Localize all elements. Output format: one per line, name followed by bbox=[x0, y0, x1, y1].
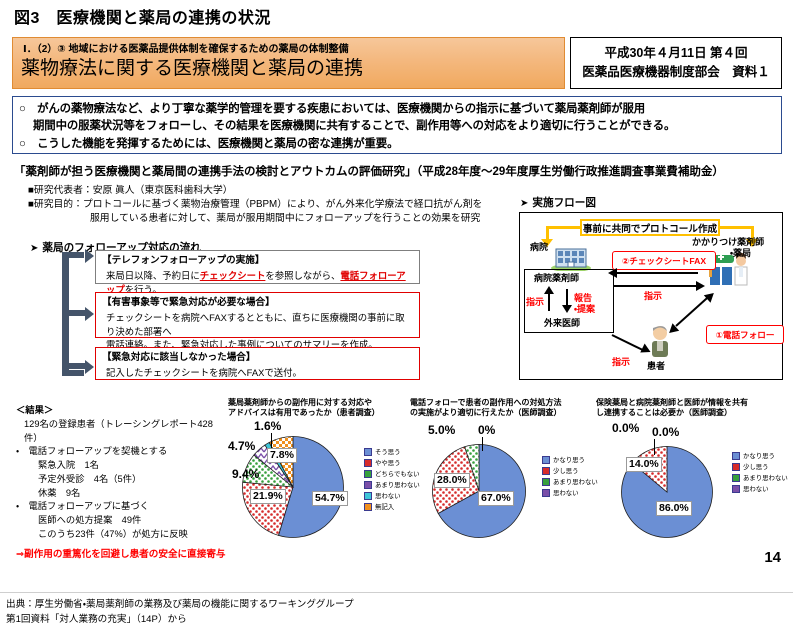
instruction-label-to-patient: 指示 bbox=[612, 355, 630, 368]
results-conclusion: ⇒副作用の重篤化を回避し患者の安全に直接寄与 bbox=[16, 548, 226, 562]
chart3-label-1: 14.0% bbox=[626, 457, 662, 472]
chart3-leader-line bbox=[654, 439, 655, 455]
flow-step-1-pre: 来局日以降、予約日に bbox=[106, 270, 200, 281]
chart2-title: 電話フォローで患者の副作用への対処方法 の実施がより適切に行えたか（医師調査） bbox=[410, 398, 590, 419]
legend-swatch bbox=[732, 485, 740, 493]
chart3-label-3: 0.0% bbox=[650, 425, 681, 440]
study-meta: ■研究代表者：安原 眞人（東京医科歯科大学） ■研究目的：プロトコールに基づく薬… bbox=[28, 184, 482, 227]
chart3-label-2: 0.0% bbox=[610, 421, 641, 436]
legend-item: 少し思う bbox=[732, 462, 788, 473]
results-registered: 129名の登録患者（トレーシングレポート428件） bbox=[16, 418, 226, 446]
diagram-heading-label: 実施フロー図 bbox=[532, 197, 596, 209]
page-number: 14 bbox=[764, 549, 781, 566]
legend-swatch bbox=[364, 503, 372, 511]
chart1-title-line-2: アドバイスは有用であったか（患者調査） bbox=[228, 408, 380, 417]
implementation-flow-diagram: 事前に共同でプロトコール作成 病院 bbox=[519, 212, 783, 380]
chart3-title: 保険薬局と病院薬剤師と医師が情報を共有 し連携することは必要か（医師調査） bbox=[596, 398, 790, 419]
legend-label: 少し思う bbox=[553, 466, 579, 477]
protocol-drop-left bbox=[546, 226, 549, 240]
flow-bracket-tip-1 bbox=[85, 249, 94, 263]
results-item-2b: このうち23件（47%）が処方に反映 bbox=[16, 528, 226, 542]
footer-line-1: 出典：厚生労働省・薬局薬剤師の業務及び薬局の機能に関するワーキンググループ bbox=[6, 597, 354, 612]
page-title: 薬物療法に関する医療機関と薬局の連携 bbox=[21, 53, 363, 80]
chart3-label-0-text: 86.0% bbox=[659, 502, 689, 514]
chart1-label-5: 7.8% bbox=[267, 448, 297, 463]
chart3-title-line-1: 保険薬局と病院薬剤師と医師が情報を共有 bbox=[596, 398, 748, 407]
legend-swatch bbox=[542, 478, 550, 486]
triangle-right-icon: ➤ bbox=[30, 243, 38, 254]
chart-information-sharing: 保険薬局と病院薬剤師と医師が情報を共有 し連携することは必要か（医師調査） 0.… bbox=[594, 398, 790, 539]
legend-item: かなり思う bbox=[542, 455, 598, 466]
results-item-1: ・ 電話フォローアップを契機とする bbox=[16, 445, 226, 459]
flow-step-3-body-line-1: 記入したチェックシートを病院へFAXで送付。 bbox=[102, 366, 414, 380]
legend-label: かなり思う bbox=[553, 455, 585, 466]
results-item-2a: 医師への処方提案 49件 bbox=[16, 514, 226, 528]
chart1-label-1: 21.9% bbox=[250, 489, 286, 504]
proposal-label: ・提案 bbox=[574, 302, 595, 315]
results-block: ＜結果＞ 129名の登録患者（トレーシングレポート428件） ・ 電話フォローア… bbox=[16, 404, 226, 562]
flow-step-box-2: 【有害事象等で緊急対応が必要な場合】 チェックシートを病院へFAXするとともに、… bbox=[95, 292, 420, 338]
instruction-arrow-right-icon bbox=[696, 281, 705, 291]
legend-label: あまり思わない bbox=[743, 473, 788, 484]
chart3-title-line-2: し連携することは必要か（医師調査） bbox=[596, 408, 732, 417]
chart3-label-0: 86.0% bbox=[656, 501, 692, 516]
chart2-label-1: 28.0% bbox=[434, 473, 470, 488]
legend-swatch bbox=[364, 448, 372, 456]
flow-step-1-title: 【テレフォンフォローアップの実施】 bbox=[102, 254, 414, 268]
legend-label: そう思う bbox=[375, 447, 401, 458]
protocol-arm-right bbox=[718, 226, 754, 229]
statement-line-2: 期間中の服薬状況等をフォローし、その結果を医療機関に共有することで、副作用等への… bbox=[19, 118, 775, 135]
study-purpose-line-2: 服用している患者に対して、薬局が服用期間中にフォローアップを行うことの効果を研究 bbox=[28, 212, 482, 226]
results-item-1c: 休薬 9名 bbox=[16, 487, 226, 501]
study-title: 「薬剤師が担う医療機関と薬局間の連携手法の検討とアウトカムの評価研究」（平成28… bbox=[14, 163, 724, 179]
legend-swatch bbox=[364, 459, 372, 467]
outpatient-doctor-label: 外来医師 bbox=[544, 316, 580, 329]
legend-swatch bbox=[542, 467, 550, 475]
chart2-label-1-text: 28.0% bbox=[437, 474, 467, 486]
report-arrow-down-icon bbox=[562, 305, 572, 313]
legend-label: かなり思う bbox=[743, 451, 775, 462]
figure-caption: 図3 医療機関と薬局の連携の状況 bbox=[14, 4, 271, 28]
statement-line-1: ○ がんの薬物療法など、より丁寧な薬学的管理を要する疾患においては、医療機関から… bbox=[19, 101, 775, 118]
legend-swatch bbox=[732, 474, 740, 482]
flow-step-1-mid: を参照しながら、 bbox=[265, 270, 340, 281]
chart1-label-4: 1.6% bbox=[252, 419, 283, 434]
legend-label: 思わない bbox=[743, 484, 769, 495]
legend-label: 思わない bbox=[375, 491, 401, 502]
phone-follow-badge: ①電話フォロー bbox=[706, 325, 784, 344]
slide-header-band: Ⅰ．（2）③ 地域における医薬品提供体制を確保するための薬局の体制整備 薬物療法… bbox=[12, 37, 565, 89]
flow-step-2-body-line-1: チェックシートを病院へFAXするとともに、直ちに医療機関の事前に取り決めた部署へ bbox=[102, 311, 414, 338]
legend-swatch bbox=[732, 452, 740, 460]
results-item-1a: 緊急入院 1名 bbox=[16, 459, 226, 473]
instruction-arrow-up-icon bbox=[544, 286, 554, 294]
legend-swatch bbox=[364, 470, 372, 478]
instruction-label-inner: 指示 bbox=[526, 295, 544, 308]
doctor-patient-arrow-shaft bbox=[612, 334, 645, 352]
patient-pharmacy-arrow-shaft bbox=[675, 294, 711, 326]
legend-item: 思わない bbox=[542, 488, 598, 499]
triangle-right-icon: ➤ bbox=[520, 198, 528, 209]
slide-root: 図3 医療機関と薬局の連携の状況 Ⅰ．（2）③ 地域における医薬品提供体制を確保… bbox=[0, 0, 793, 641]
chart3-body: 0.0% 0.0% 14.0% 86.0% かなり思う少し思うあまり思わない思わ… bbox=[594, 421, 790, 539]
chart2-title-line-1: 電話フォローで患者の副作用への対処方法 bbox=[410, 398, 562, 407]
flow-step-box-1: 【テレフォンフォローアップの実施】 来局日以降、予約日にチェックシートを参照しな… bbox=[95, 250, 420, 284]
chart2-leader-line bbox=[482, 437, 483, 451]
results-item-2: ・ 電話フォローアップに基づく bbox=[16, 500, 226, 514]
footer-line-2: 第1回資料「対人業務の充実」（14P）から bbox=[6, 612, 354, 627]
legend-item: 少し思う bbox=[542, 466, 598, 477]
family-pharmacist-label-line-1: かかりつけ薬剤師 bbox=[692, 235, 764, 248]
legend-label: やや思う bbox=[375, 458, 401, 469]
flow-step-1-emphasis-1: チェックシート bbox=[200, 270, 266, 281]
chart2-body: 5.0% 0% 28.0% 67.0% かなり思う少し思うあまり思わない思わない bbox=[408, 421, 590, 539]
hospital-pharmacist-label: 病院薬剤師 bbox=[534, 271, 579, 284]
patient-label: 患者 bbox=[647, 359, 665, 372]
chart2-label-0: 67.0% bbox=[478, 491, 514, 506]
chart1-title: 薬局薬剤師からの副作用に対する対応や アドバイスは有用であったか（患者調査） bbox=[228, 398, 408, 419]
results-heading: ＜結果＞ bbox=[16, 404, 226, 418]
flow-step-2-title: 【有害事象等で緊急対応が必要な場合】 bbox=[102, 296, 414, 310]
legend-label: 少し思う bbox=[743, 462, 769, 473]
study-purpose-line-1: ■研究目的：プロトコールに基づく薬物治療管理（PBPM）により、がん外来化学療法… bbox=[28, 199, 482, 210]
legend-label: 無記入 bbox=[375, 502, 394, 513]
statement-line-3: ○ こうした機能を発揮するためには、医療機関と薬局の密な連携が重要。 bbox=[19, 136, 775, 153]
instruction-arrow-shaft-up bbox=[548, 293, 550, 311]
patient-pharmacy-arrow-up-icon bbox=[704, 289, 717, 302]
fax-arrow-shaft-left bbox=[616, 272, 698, 274]
protocol-arm-left bbox=[546, 226, 582, 229]
fax-arrow-left-icon bbox=[608, 268, 617, 278]
chart1-label-2: 9.4% bbox=[230, 467, 261, 482]
meeting-info-box: 平成30年４月11日 第４回 医薬品医療機器制度部会 資料１ bbox=[570, 37, 782, 89]
legend-item: あまり思わない bbox=[542, 477, 598, 488]
chart1-label-0: 54.7% bbox=[312, 491, 348, 506]
study-representative: ■研究代表者：安原 眞人（東京医科歯科大学） bbox=[28, 185, 233, 196]
chart-doctor-survey-response: 電話フォローで患者の副作用への対処方法 の実施がより適切に行えたか（医師調査） … bbox=[408, 398, 590, 539]
hospital-label: 病院 bbox=[530, 240, 548, 253]
protocol-box: 事前に共同でプロトコール作成 bbox=[580, 219, 720, 236]
meeting-date: 平成30年４月11日 第４回 bbox=[604, 44, 747, 63]
instruction-arrow-shaft-right bbox=[614, 285, 696, 287]
instruction-label-to-pharmacy: 指示 bbox=[644, 289, 662, 302]
chart2-label-3: 0% bbox=[476, 423, 497, 438]
footer-divider bbox=[0, 592, 793, 593]
legend-item: かなり思う bbox=[732, 451, 788, 462]
flow-bracket-tip-2 bbox=[85, 307, 94, 321]
legend-label: 思わない bbox=[553, 488, 579, 499]
results-item-1b: 予定外受診 4名（5件） bbox=[16, 473, 226, 487]
flow-step-box-3: 【緊急対応に該当しなかった場合】 記入したチェックシートを病院へFAXで送付。 bbox=[95, 347, 420, 380]
chart1-body: 1.6% 4.7% 7.8% 9.4% 21.9% 54.7% そう思うやや思う… bbox=[226, 421, 408, 539]
legend-swatch bbox=[732, 463, 740, 471]
chart2-title-line-2: の実施がより適切に行えたか（医師調査） bbox=[410, 408, 561, 417]
summary-statement-box: ○ がんの薬物療法など、より丁寧な薬学的管理を要する疾患においては、医療機関から… bbox=[12, 96, 782, 154]
legend-swatch bbox=[364, 492, 372, 500]
legend-label: あまり思わない bbox=[553, 477, 598, 488]
meeting-document: 医薬品医療機器制度部会 資料１ bbox=[582, 63, 770, 82]
flow-bracket-tip-3 bbox=[85, 360, 94, 374]
legend-item: あまり思わない bbox=[732, 473, 788, 484]
chart-patient-survey: 薬局薬剤師からの副作用に対する対応や アドバイスは有用であったか（患者調査） 1… bbox=[226, 398, 408, 539]
source-footer: 出典：厚生労働省・薬局薬剤師の業務及び薬局の機能に関するワーキンググループ 第1… bbox=[6, 597, 354, 628]
legend-swatch bbox=[542, 456, 550, 464]
chart2-label-0-text: 67.0% bbox=[481, 492, 511, 504]
chart3-legend: かなり思う少し思うあまり思わない思わない bbox=[732, 451, 788, 495]
chart1-title-line-1: 薬局薬剤師からの副作用に対する対応や bbox=[228, 398, 372, 407]
family-pharmacist-label-line-2: ・薬局 bbox=[730, 246, 751, 259]
chart2-legend: かなり思う少し思うあまり思わない思わない bbox=[542, 455, 598, 499]
legend-item: 思わない bbox=[732, 484, 788, 495]
hospital-building-icon bbox=[550, 243, 592, 271]
flow-step-3-title: 【緊急対応に該当しなかった場合】 bbox=[102, 351, 414, 365]
fax-badge: ②チェックシートFAX bbox=[612, 251, 716, 270]
chart1-label-3: 4.7% bbox=[226, 439, 257, 454]
legend-swatch bbox=[364, 481, 372, 489]
legend-swatch bbox=[542, 489, 550, 497]
chart2-label-2: 5.0% bbox=[426, 423, 457, 438]
chart3-label-1-text: 14.0% bbox=[629, 458, 659, 470]
diagram-section-heading: ➤実施フロー図 bbox=[520, 195, 596, 210]
